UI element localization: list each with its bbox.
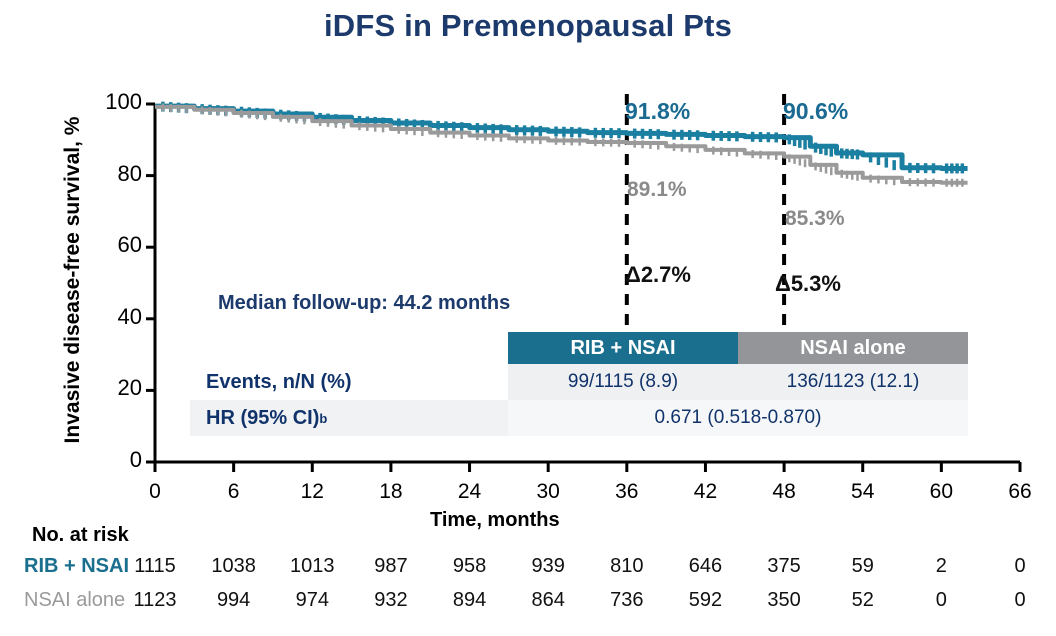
- at-risk-value: 52: [835, 589, 891, 612]
- at-risk-value: 646: [677, 555, 733, 578]
- at-risk-value: 736: [599, 589, 655, 612]
- at-risk-value: 1115: [127, 555, 183, 578]
- at-risk-value: 59: [835, 555, 891, 578]
- at-risk-value: 592: [677, 589, 733, 612]
- median-followup-label: Median follow-up: 44.2 months: [218, 292, 510, 315]
- table-row-events: Events, n/N (%) 99/1115 (8.9) 136/1123 (…: [190, 364, 968, 400]
- annotation-48mo-arm-a: 90.6%: [783, 98, 848, 125]
- at-risk-value: 974: [284, 589, 340, 612]
- at-risk-title: No. at risk: [32, 524, 129, 547]
- at-risk-value: 1038: [206, 555, 262, 578]
- at-risk-value: 864: [520, 589, 576, 612]
- at-risk-value: 0: [992, 555, 1048, 578]
- at-risk-value: 1013: [284, 555, 340, 578]
- table-header-arm-a: RIB + NSAI: [508, 332, 738, 364]
- table-row-events-label: Events, n/N (%): [190, 364, 508, 400]
- at-risk-value: 810: [599, 555, 655, 578]
- table-header-arm-b: NSAI alone: [738, 332, 968, 364]
- table-row-hr-label: HR (95% CI)b: [190, 400, 508, 436]
- at-risk-value: 350: [756, 589, 812, 612]
- annotation-48mo-delta: Δ5.3%: [775, 271, 841, 297]
- at-risk-value: 894: [442, 589, 498, 612]
- at-risk-value: 0: [913, 589, 969, 612]
- at-risk-value: 0: [992, 589, 1048, 612]
- table-header-blank: [190, 332, 508, 364]
- table-row-events-arm-b: 136/1123 (12.1): [738, 364, 968, 400]
- at-risk-value: 2: [913, 555, 969, 578]
- table-row-hr: HR (95% CI)b 0.671 (0.518-0.870): [190, 400, 968, 436]
- at-risk-value: 987: [363, 555, 419, 578]
- annotation-36mo-arm-b: 89.1%: [627, 178, 687, 202]
- annotation-48mo-arm-b: 85.3%: [785, 207, 845, 231]
- table-row-events-arm-a: 99/1115 (8.9): [508, 364, 738, 400]
- table-header-row: RIB + NSAI NSAI alone: [190, 332, 968, 364]
- table-row-hr-label-text: HR (95% CI): [206, 407, 319, 430]
- at-risk-value: 994: [206, 589, 262, 612]
- table-row-hr-superscript: b: [319, 411, 327, 426]
- table-row-hr-value: 0.671 (0.518-0.870): [508, 400, 968, 436]
- annotation-36mo-arm-a: 91.8%: [625, 98, 690, 125]
- km-plot: [0, 0, 1056, 636]
- summary-table: RIB + NSAI NSAI alone Events, n/N (%) 99…: [190, 332, 968, 436]
- annotation-36mo-delta: Δ2.7%: [625, 262, 691, 288]
- at-risk-value: 375: [756, 555, 812, 578]
- at-risk-value: 958: [442, 555, 498, 578]
- at-risk-value: 1123: [127, 589, 183, 612]
- at-risk-value: 932: [363, 589, 419, 612]
- at-risk-value: 939: [520, 555, 576, 578]
